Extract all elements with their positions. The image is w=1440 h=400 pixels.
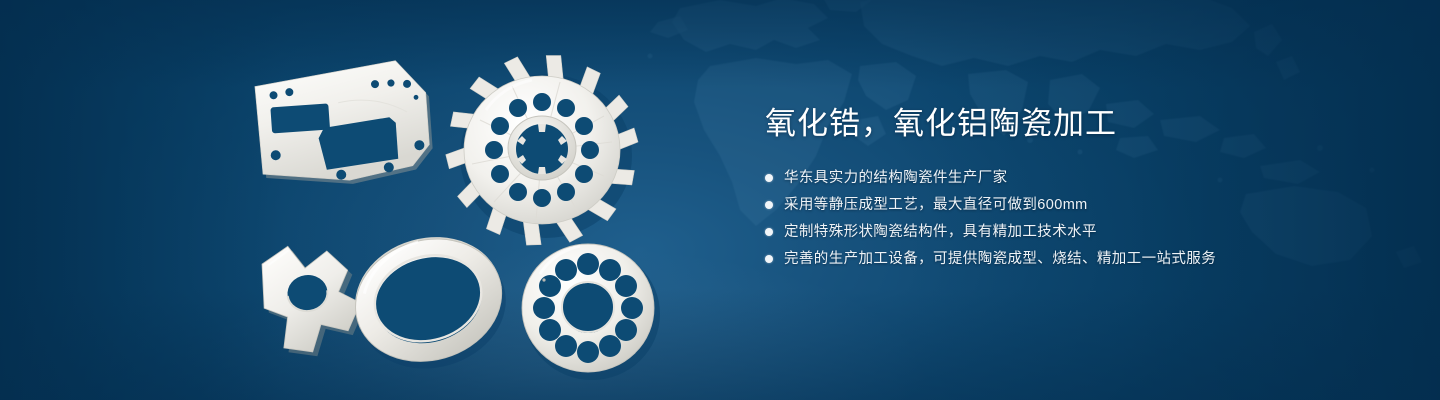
bullet-dot-icon [765, 228, 773, 236]
list-item: 完善的生产加工设备，可提供陶瓷成型、烧结、精加工一站式服务 [765, 249, 1385, 269]
list-item-label: 华东具实力的结构陶瓷件生产厂家 [784, 168, 1008, 188]
list-item: 华东具实力的结构陶瓷件生产厂家 [765, 168, 1385, 188]
hero-banner: 氧化锆，氧化铝陶瓷加工 华东具实力的结构陶瓷件生产厂家 采用等静压成型工艺，最大… [0, 0, 1440, 400]
ceramic-products-collage [230, 40, 710, 380]
ceramic-impeller-rotor [442, 50, 642, 250]
list-item: 采用等静压成型工艺，最大直径可做到600mm [765, 195, 1385, 215]
ceramic-ring-gasket [340, 230, 520, 380]
bullet-dot-icon [765, 174, 773, 182]
bullet-dot-icon [765, 255, 773, 263]
list-item-label: 采用等静压成型工艺，最大直径可做到600mm [784, 195, 1088, 215]
ceramic-plate-with-cutouts [250, 58, 450, 198]
list-item: 定制特殊形状陶瓷结构件，具有精加工技术水平 [765, 222, 1385, 242]
list-item-label: 定制特殊形状陶瓷结构件，具有精加工技术水平 [784, 222, 1097, 242]
list-item-label: 完善的生产加工设备，可提供陶瓷成型、烧结、精加工一站式服务 [784, 249, 1216, 269]
feature-bullet-list: 华东具实力的结构陶瓷件生产厂家 采用等静压成型工艺，最大直径可做到600mm 定… [765, 168, 1385, 269]
page-title: 氧化锆，氧化铝陶瓷加工 [765, 104, 1385, 144]
banner-text-column: 氧化锆，氧化铝陶瓷加工 华东具实力的结构陶瓷件生产厂家 采用等静压成型工艺，最大… [765, 104, 1385, 276]
bullet-dot-icon [765, 201, 773, 209]
ceramic-perforated-disc [508, 228, 668, 388]
